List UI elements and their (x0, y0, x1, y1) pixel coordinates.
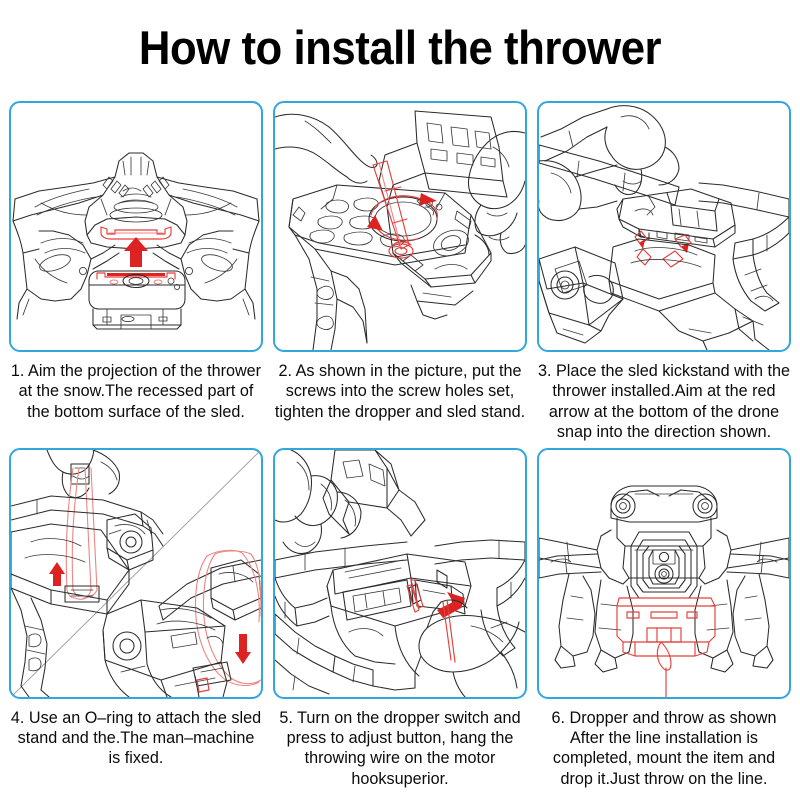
step-card-2: 2. As shown in the picture, put the scre… (273, 101, 527, 443)
step-card-3: 3. Place the sled kickstand with the thr… (537, 101, 791, 443)
step-illustration-1 (9, 101, 263, 352)
hands-tightening-screw-with-screwdriver-drawing (275, 103, 525, 350)
step-caption-5: 5. Turn on the dropper switch and press … (273, 708, 527, 790)
drone-underside-with-thrower-module-drawing (11, 103, 261, 350)
step-card-5: 5. Turn on the dropper switch and press … (273, 448, 527, 790)
drone-front-view-with-thrower-and-hanging-line-drawing (539, 450, 789, 697)
step-card-6: 6. Dropper and throw as shown After the … (537, 448, 791, 790)
step-illustration-3 (537, 101, 791, 352)
step-illustration-2 (273, 101, 527, 352)
step-caption-2: 2. As shown in the picture, put the scre… (273, 361, 527, 422)
step-caption-1: 1. Aim the projection of the thrower at … (9, 361, 263, 422)
finger-pressing-dropper-adjust-button-drawing (275, 450, 525, 697)
steps-grid: 1. Aim the projection of the thrower at … (9, 101, 791, 789)
page-title: How to install the thrower (28, 22, 772, 74)
o-ring-attached-to-drone-arms-two-views-drawing (11, 450, 261, 697)
step-illustration-4 (9, 448, 263, 699)
step-caption-6: 6. Dropper and throw as shown After the … (537, 708, 791, 790)
step-caption-3: 3. Place the sled kickstand with the thr… (537, 361, 791, 443)
step-illustration-6 (537, 448, 791, 699)
step-illustration-5 (273, 448, 527, 699)
step-caption-4: 4. Use an O–ring to attach the sled stan… (9, 708, 263, 769)
hands-snapping-sled-onto-drone-body-drawing (539, 103, 789, 350)
step-card-4: 4. Use an O–ring to attach the sled stan… (9, 448, 263, 790)
step-card-1: 1. Aim the projection of the thrower at … (9, 101, 263, 443)
